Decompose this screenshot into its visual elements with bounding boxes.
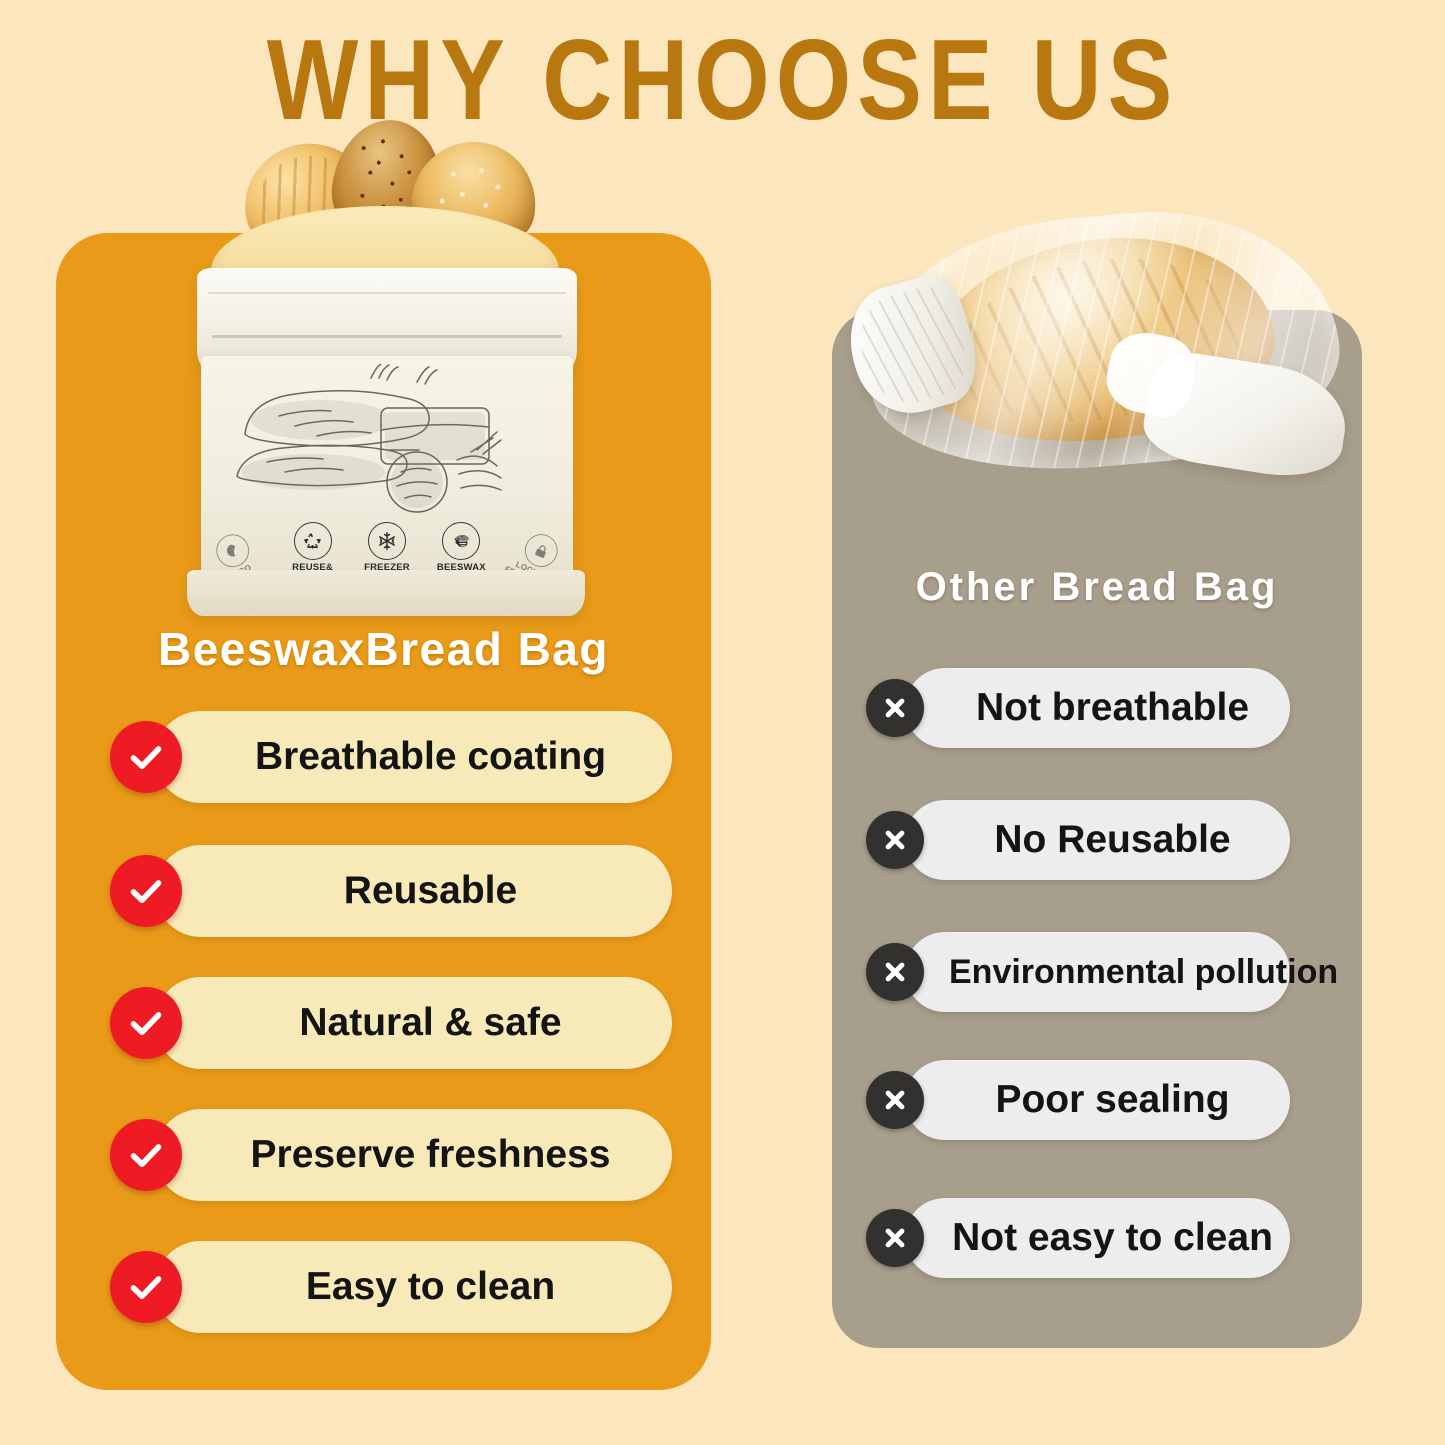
drawback-pill: Poor sealing: [905, 1060, 1290, 1140]
infographic-canvas: WHY CHOOSE US: [0, 0, 1445, 1445]
cross-icon: [866, 1209, 924, 1267]
left-feature-row-4: Preserve freshness: [110, 1109, 672, 1201]
bread-engraving-artwork: [221, 364, 509, 524]
right-feature-row-3: Environmental pollution: [866, 932, 1290, 1012]
right-feature-row-1: Not breathable: [866, 668, 1290, 748]
bee-icon: [442, 522, 480, 560]
left-feature-row-5: Easy to clean: [110, 1241, 672, 1333]
check-icon: [110, 987, 182, 1059]
drawback-label: Environmental pollution: [905, 953, 1290, 992]
left-feature-row-3: Natural & safe: [110, 977, 672, 1069]
feature-pill: Breathable coating: [155, 711, 672, 803]
drawback-pill: Not easy to clean: [905, 1198, 1290, 1278]
feature-label: Breathable coating: [155, 735, 672, 779]
drawback-pill: Environmental pollution: [905, 932, 1290, 1012]
feature-pill: Preserve freshness: [155, 1109, 672, 1201]
feature-label: Reusable: [155, 869, 672, 913]
cross-icon: [866, 943, 924, 1001]
drawback-label: Poor sealing: [905, 1078, 1290, 1122]
feature-pill: Easy to clean: [155, 1241, 672, 1333]
check-icon: [110, 721, 182, 793]
feature-label: Easy to clean: [155, 1265, 672, 1309]
feature-label: Preserve freshness: [155, 1133, 672, 1177]
check-icon: [110, 1251, 182, 1323]
drawback-pill: No Reusable: [905, 800, 1290, 880]
drawback-label: No Reusable: [905, 818, 1290, 862]
feature-pill: Reusable: [155, 845, 672, 937]
recycle-icon: [294, 522, 332, 560]
bag-base: [187, 570, 585, 616]
check-icon: [110, 1119, 182, 1191]
cross-icon: [866, 811, 924, 869]
drawback-pill: Not breathable: [905, 668, 1290, 748]
right-feature-row-2: No Reusable: [866, 800, 1290, 880]
left-feature-row-2: Reusable: [110, 845, 672, 937]
drawback-label: Not breathable: [905, 686, 1290, 730]
beeswax-bread-bag-image: ECO CLEAN REUSE& RECYCLE: [175, 118, 590, 623]
left-feature-row-1: Breathable coating: [110, 711, 672, 803]
right-panel-heading: Other Bread Bag: [832, 565, 1362, 610]
check-icon: [110, 855, 182, 927]
feature-label: Natural & safe: [155, 1001, 672, 1045]
drawback-label: Not easy to clean: [905, 1216, 1290, 1260]
snowflake-icon: [368, 522, 406, 560]
right-feature-row-5: Not easy to clean: [866, 1198, 1290, 1278]
feature-pill: Natural & safe: [155, 977, 672, 1069]
left-panel-heading: BeeswaxBread Bag: [56, 622, 711, 676]
right-feature-row-4: Poor sealing: [866, 1060, 1290, 1140]
cross-icon: [866, 679, 924, 737]
plastic-bread-bag-image: [846, 212, 1376, 492]
cross-icon: [866, 1071, 924, 1129]
